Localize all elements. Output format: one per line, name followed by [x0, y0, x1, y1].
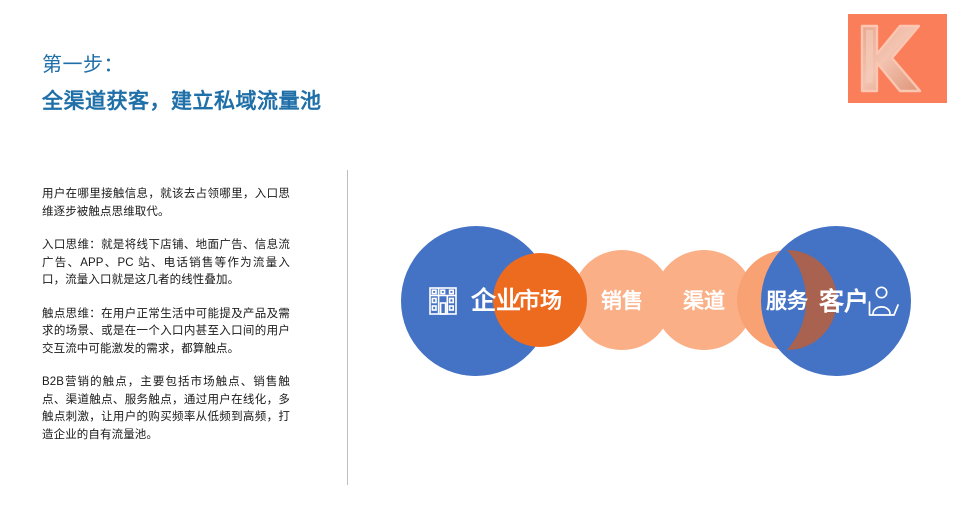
title-heading: 全渠道获客，建立私域流量池	[42, 86, 462, 118]
paragraph: 触点思维：在用户正常生活中可能提及产品及需求的场景、或是在一个入口内甚至入口间的…	[42, 306, 290, 359]
node-label-shichang: 市场	[518, 288, 562, 313]
paragraph: B2B营销的触点，主要包括市场触点、销售触点、渠道触点、服务触点，通过用户在线化…	[42, 374, 290, 444]
paragraph: 入口思维：就是将线下店铺、地面广告、信息流广告、APP、PC 站、电话销售等作为…	[42, 237, 290, 290]
node-label-kehu: 客户	[819, 287, 869, 316]
node-label-fuwu: 服务	[766, 289, 809, 313]
node-label-qiye: 企业	[471, 286, 521, 315]
touchpoint-flow-diagram: 流量经营 客户体验	[350, 222, 961, 382]
vertical-divider	[347, 170, 348, 485]
page-title: 第一步： 全渠道获客，建立私域流量池	[42, 50, 462, 118]
node-label-xiaoshou: 销售	[601, 289, 643, 313]
k-logo	[848, 14, 947, 103]
title-step: 第一步：	[42, 50, 462, 80]
paragraph: 用户在哪里接触信息，就该去占领哪里，入口思维逐步被触点思维取代。	[42, 186, 290, 221]
body-copy: 用户在哪里接触信息，就该去占领哪里，入口思维逐步被触点思维取代。 入口思维：就是…	[42, 186, 290, 444]
node-label-qudao: 渠道	[683, 289, 725, 313]
